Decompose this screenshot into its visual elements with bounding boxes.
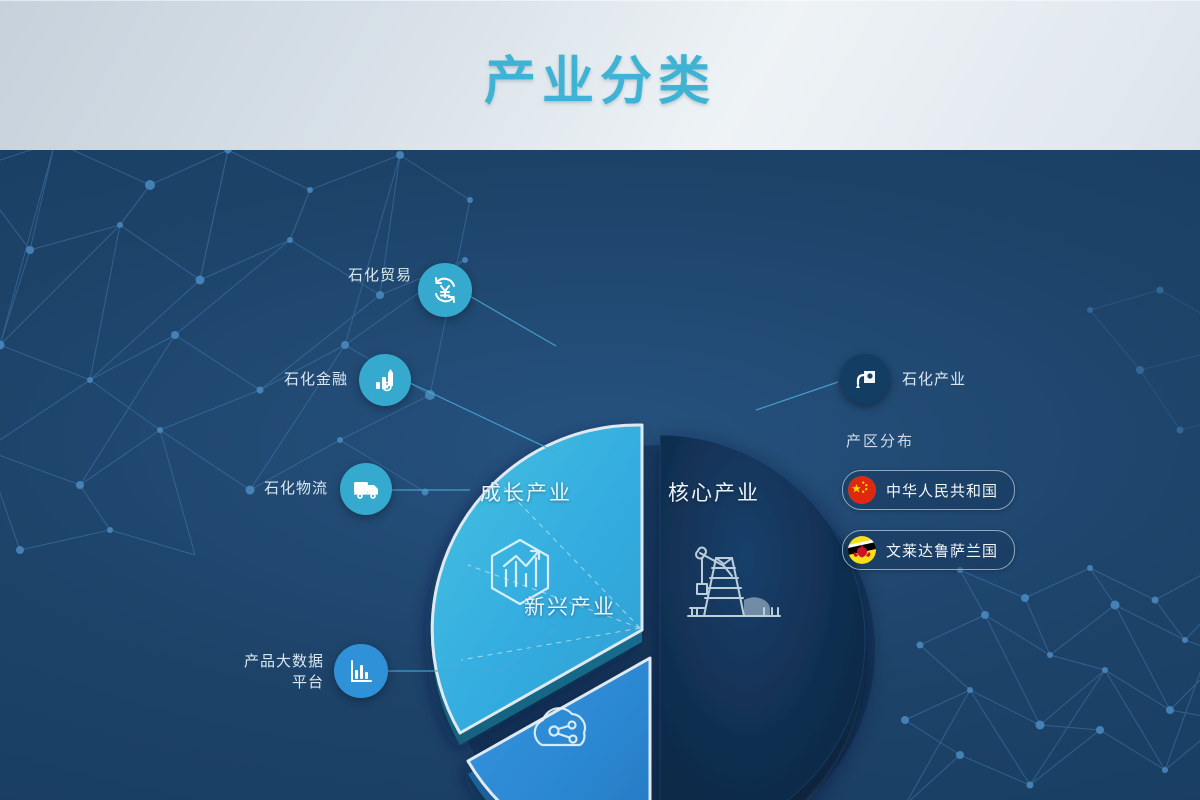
page-title: 产业分类: [0, 39, 1200, 114]
pie-segment-core[interactable]: [660, 435, 865, 800]
page-header: 产业分类: [0, 0, 1200, 150]
petro-label: 石化产业: [902, 370, 966, 390]
connector-trade: [468, 295, 556, 346]
bigdata-label-line1: 产品大数据: [216, 652, 324, 672]
bigdata-bubble[interactable]: [334, 644, 388, 698]
industry-pie-chart: [0, 150, 1200, 800]
logistics-bubble[interactable]: [340, 463, 392, 515]
connector-finance: [408, 382, 556, 452]
region-name-china: 中华人民共和国: [886, 480, 998, 501]
finance-label: 石化金融: [266, 370, 348, 390]
region-name-brunei: 文莱达鲁萨兰国: [886, 540, 998, 561]
infographic-stage: 核心产业 成长产业 新兴产业 石化贸易: [0, 0, 1200, 800]
connector-petro: [756, 382, 838, 410]
flag-brunei-icon: [848, 536, 876, 564]
petro-bubble[interactable]: [840, 354, 890, 404]
logistics-label: 石化物流: [246, 479, 328, 499]
region-pill-china[interactable]: 中华人民共和国: [842, 470, 1015, 510]
flag-china-icon: [848, 476, 876, 504]
bigdata-label-line2: 平台: [216, 673, 324, 693]
region-pill-brunei[interactable]: 文莱达鲁萨兰国: [842, 530, 1015, 570]
bar-chart-icon: [347, 657, 375, 685]
trade-label: 石化贸易: [340, 266, 412, 286]
finance-bubble[interactable]: [359, 354, 411, 406]
region-distribution-title: 产区分布: [846, 430, 914, 451]
finance-bars-icon: [371, 366, 399, 394]
fuel-pump-icon: [851, 365, 879, 393]
yuan-exchange-icon: [430, 275, 460, 305]
truck-icon: [351, 474, 381, 504]
trade-bubble[interactable]: [418, 263, 472, 317]
